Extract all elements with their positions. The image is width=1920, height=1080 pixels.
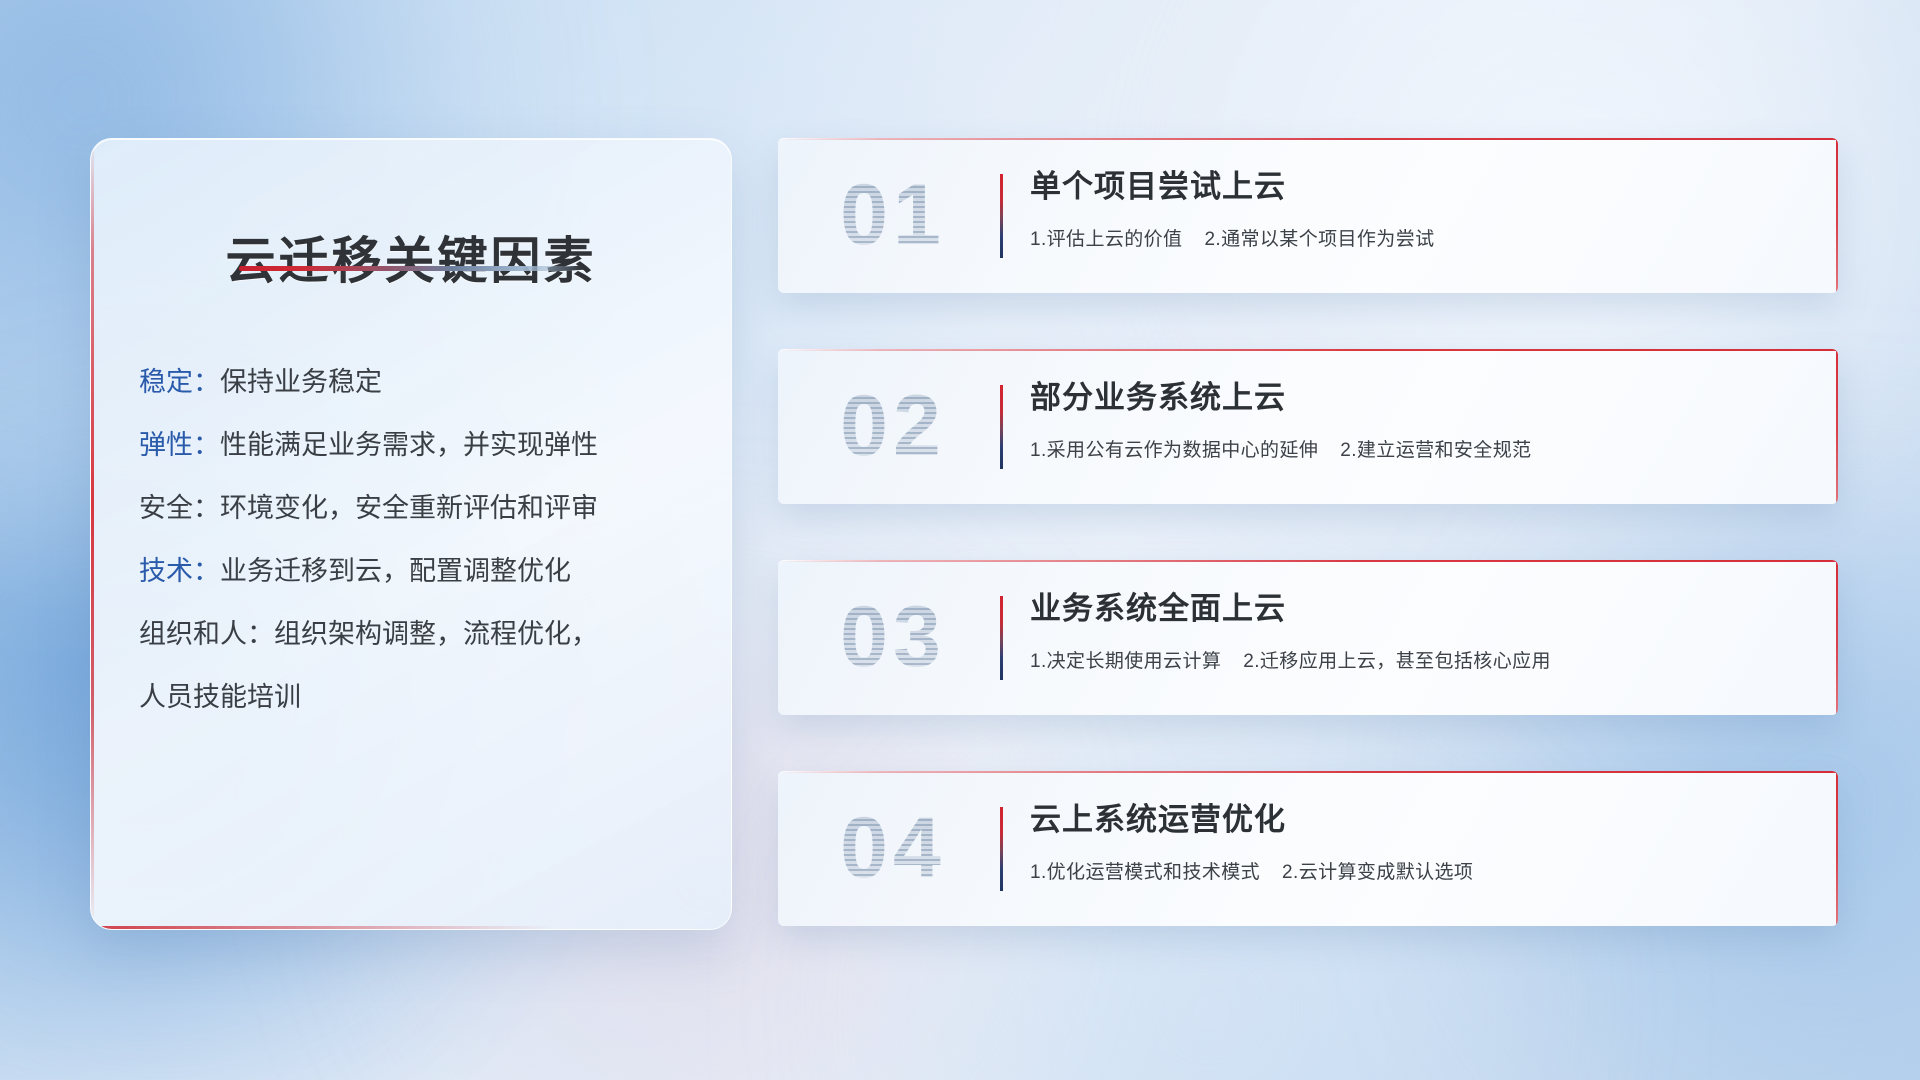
page-title: 云迁移关键因素 xyxy=(91,221,731,293)
factor-text-security: 环境变化，安全重新评估和评审 xyxy=(220,493,598,523)
stage-body-01: 单个项目尝试上云 1.评估上云的价值2.通常以某个项目作为尝试 xyxy=(1030,164,1802,254)
factor-text-organization: 组织架构调整，流程优化， xyxy=(274,619,598,649)
stage-body-04: 云上系统运营优化 1.优化运营模式和技术模式2.云计算变成默认选项 xyxy=(1030,797,1802,887)
stage-accent-bar-04 xyxy=(1000,807,1003,891)
factor-item-stability: 稳定：保持业务稳定 xyxy=(139,351,697,414)
stage-number-01: 01 xyxy=(800,156,986,274)
stage-point1-02: 1.采用公有云作为数据中心的延伸 xyxy=(1030,440,1318,461)
stage-number-02: 02 xyxy=(800,367,986,485)
stage-points-03: 1.决定长期使用云计算2.迁移应用上云，甚至包括核心应用 xyxy=(1030,648,1802,676)
factor-item-organization-continued: 人员技能培训 xyxy=(139,666,697,729)
stage-accent-bar-02 xyxy=(1000,385,1003,469)
stage-point2-02: 2.建立运营和安全规范 xyxy=(1340,440,1531,461)
stage-points-02: 1.采用公有云作为数据中心的延伸2.建立运营和安全规范 xyxy=(1030,437,1802,465)
stage-card-02[interactable]: 02 部分业务系统上云 1.采用公有云作为数据中心的延伸2.建立运营和安全规范 xyxy=(778,349,1838,504)
factor-text-technology: 业务迁移到云，配置调整优化 xyxy=(220,556,571,586)
stage-number-03: 03 xyxy=(800,578,986,696)
factor-label-security: 安全： xyxy=(139,493,220,523)
stage-point1-03: 1.决定长期使用云计算 xyxy=(1030,651,1221,672)
stage-point1-04: 1.优化运营模式和技术模式 xyxy=(1030,862,1260,883)
stage-title-04: 云上系统运营优化 xyxy=(1030,797,1802,843)
stage-body-03: 业务系统全面上云 1.决定长期使用云计算2.迁移应用上云，甚至包括核心应用 xyxy=(1030,586,1802,676)
factor-label-organization: 组织和人： xyxy=(139,619,274,649)
factor-list: 稳定：保持业务稳定 弹性：性能满足业务需求，并实现弹性 安全：环境变化，安全重新… xyxy=(139,351,697,729)
stage-title-02: 部分业务系统上云 xyxy=(1030,375,1802,421)
factor-text-organization-continued: 人员技能培训 xyxy=(139,682,301,712)
factor-label-stability: 稳定： xyxy=(139,367,220,397)
stage-accent-bar-01 xyxy=(1000,174,1003,258)
key-factors-panel: 云迁移关键因素 稳定：保持业务稳定 弹性：性能满足业务需求，并实现弹性 安全：环… xyxy=(90,138,732,930)
stage-points-04: 1.优化运营模式和技术模式2.云计算变成默认选项 xyxy=(1030,859,1802,887)
factor-label-elasticity: 弹性： xyxy=(139,430,220,460)
stage-card-04[interactable]: 04 云上系统运营优化 1.优化运营模式和技术模式2.云计算变成默认选项 xyxy=(778,771,1838,926)
factor-item-elasticity: 弹性：性能满足业务需求，并实现弹性 xyxy=(139,414,697,477)
stage-accent-bar-03 xyxy=(1000,596,1003,680)
factor-item-organization: 组织和人：组织架构调整，流程优化， xyxy=(139,603,697,666)
stage-body-02: 部分业务系统上云 1.采用公有云作为数据中心的延伸2.建立运营和安全规范 xyxy=(1030,375,1802,465)
factor-item-security: 安全：环境变化，安全重新评估和评审 xyxy=(139,477,697,540)
stage-number-04: 04 xyxy=(800,789,986,907)
stage-point2-03: 2.迁移应用上云，甚至包括核心应用 xyxy=(1243,651,1551,672)
title-underline-rule xyxy=(239,266,583,271)
factor-text-elasticity: 性能满足业务需求，并实现弹性 xyxy=(220,430,598,460)
stage-point1-01: 1.评估上云的价值 xyxy=(1030,229,1182,250)
stage-title-03: 业务系统全面上云 xyxy=(1030,586,1802,632)
stage-card-01[interactable]: 01 单个项目尝试上云 1.评估上云的价值2.通常以某个项目作为尝试 xyxy=(778,138,1838,293)
stage-title-01: 单个项目尝试上云 xyxy=(1030,164,1802,210)
migration-stage-card-list: 01 单个项目尝试上云 1.评估上云的价值2.通常以某个项目作为尝试 02 部分… xyxy=(778,138,1838,982)
stage-point2-04: 2.云计算变成默认选项 xyxy=(1282,862,1473,883)
factor-label-technology: 技术： xyxy=(139,556,220,586)
stage-card-03[interactable]: 03 业务系统全面上云 1.决定长期使用云计算2.迁移应用上云，甚至包括核心应用 xyxy=(778,560,1838,715)
stage-points-01: 1.评估上云的价值2.通常以某个项目作为尝试 xyxy=(1030,226,1802,254)
factor-text-stability: 保持业务稳定 xyxy=(220,367,382,397)
stage-point2-01: 2.通常以某个项目作为尝试 xyxy=(1204,229,1434,250)
factor-item-technology: 技术：业务迁移到云，配置调整优化 xyxy=(139,540,697,603)
